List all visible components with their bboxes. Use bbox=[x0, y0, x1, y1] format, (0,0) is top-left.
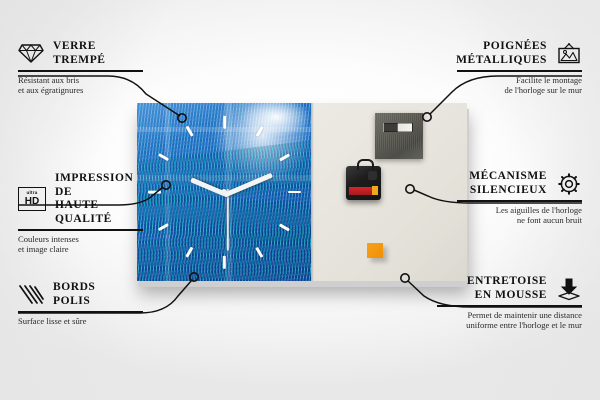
callout-mecanisme-silencieux: MÉCANISME SILENCIEUX Les aiguilles de l'… bbox=[457, 170, 582, 225]
callout-header: BORDS POLIS bbox=[18, 281, 143, 308]
callout-description: Permet de maintenir une distance uniform… bbox=[437, 310, 582, 331]
callout-title: MÉCANISME SILENCIEUX bbox=[469, 170, 547, 197]
callout-entretoise-en-mousse: ENTRETOISE EN MOUSSE Permet de maintenir… bbox=[437, 275, 582, 330]
foam-spacer-arrow-icon bbox=[556, 277, 582, 301]
artwork-highlight bbox=[241, 103, 311, 137]
clock-tick bbox=[288, 191, 301, 194]
mechanism-dial bbox=[368, 171, 377, 180]
clock-tick bbox=[223, 255, 226, 268]
gear-icon bbox=[556, 172, 582, 196]
callout-header: ultra HD IMPRESSION DE HAUTE QUALITÉ bbox=[18, 172, 143, 226]
ultra-hd-icon: ultra HD bbox=[18, 187, 46, 211]
callout-poignees-metalliques: POIGNÉES MÉTALLIQUES Facilite le montage… bbox=[457, 40, 582, 95]
callout-description: Résistant aux bris et aux égratignures bbox=[18, 75, 143, 96]
callout-title: BORDS POLIS bbox=[53, 281, 95, 308]
foam-spacer-pad bbox=[367, 243, 383, 258]
callout-rule bbox=[18, 70, 143, 72]
clock-face-front bbox=[137, 103, 311, 281]
mechanism-hanging-loop bbox=[357, 159, 374, 170]
clock-tick bbox=[148, 191, 161, 194]
callout-description: Les aiguilles de l'horloge ne font aucun… bbox=[457, 205, 582, 226]
product-image bbox=[137, 103, 467, 281]
clock-second-hand bbox=[227, 189, 229, 251]
callout-title: POIGNÉES MÉTALLIQUES bbox=[456, 40, 547, 67]
artwork-wave bbox=[137, 228, 311, 281]
picture-frame-hook-icon bbox=[556, 42, 582, 66]
clock-tick bbox=[223, 115, 226, 128]
callout-title: VERRE TREMPÉ bbox=[53, 40, 106, 67]
callout-header: MÉCANISME SILENCIEUX bbox=[457, 170, 582, 197]
callout-header: ENTRETOISE EN MOUSSE bbox=[437, 275, 582, 302]
hanger-slot bbox=[383, 123, 413, 132]
diamond-icon bbox=[18, 42, 44, 66]
battery-terminal bbox=[372, 186, 378, 195]
callout-rule bbox=[457, 200, 582, 202]
callout-rule bbox=[437, 305, 582, 307]
polished-edge-icon bbox=[18, 283, 44, 307]
callout-rule bbox=[18, 229, 143, 231]
callout-bords-polis: BORDS POLIS Surface lisse et sûre bbox=[18, 281, 143, 326]
callout-title: ENTRETOISE EN MOUSSE bbox=[467, 275, 547, 302]
callout-rule bbox=[457, 70, 582, 72]
callout-header: VERRE TREMPÉ bbox=[18, 40, 143, 67]
callout-title: IMPRESSION DE HAUTE QUALITÉ bbox=[55, 172, 143, 226]
callout-impression-haute-qualite: ultra HD IMPRESSION DE HAUTE QUALITÉ Cou… bbox=[18, 172, 143, 254]
callout-header: POIGNÉES MÉTALLIQUES bbox=[457, 40, 582, 67]
callout-description: Facilite le montage de l'horloge sur le … bbox=[457, 75, 582, 96]
clock-back-panel bbox=[311, 103, 467, 281]
callout-description: Couleurs intenses et image claire bbox=[18, 234, 143, 255]
callout-description: Surface lisse et sûre bbox=[18, 316, 143, 326]
callout-verre-trempe: VERRE TREMPÉ Résistant aux bris et aux é… bbox=[18, 40, 143, 95]
callout-rule bbox=[18, 311, 143, 313]
metal-hanger-plate bbox=[375, 113, 423, 159]
clock-center-cap bbox=[221, 189, 227, 195]
infographic-canvas: VERRE TREMPÉ Résistant aux bris et aux é… bbox=[0, 0, 600, 400]
ultra-hd-icon-large-label: HD bbox=[25, 197, 39, 207]
clock-mechanism-box bbox=[346, 166, 381, 200]
